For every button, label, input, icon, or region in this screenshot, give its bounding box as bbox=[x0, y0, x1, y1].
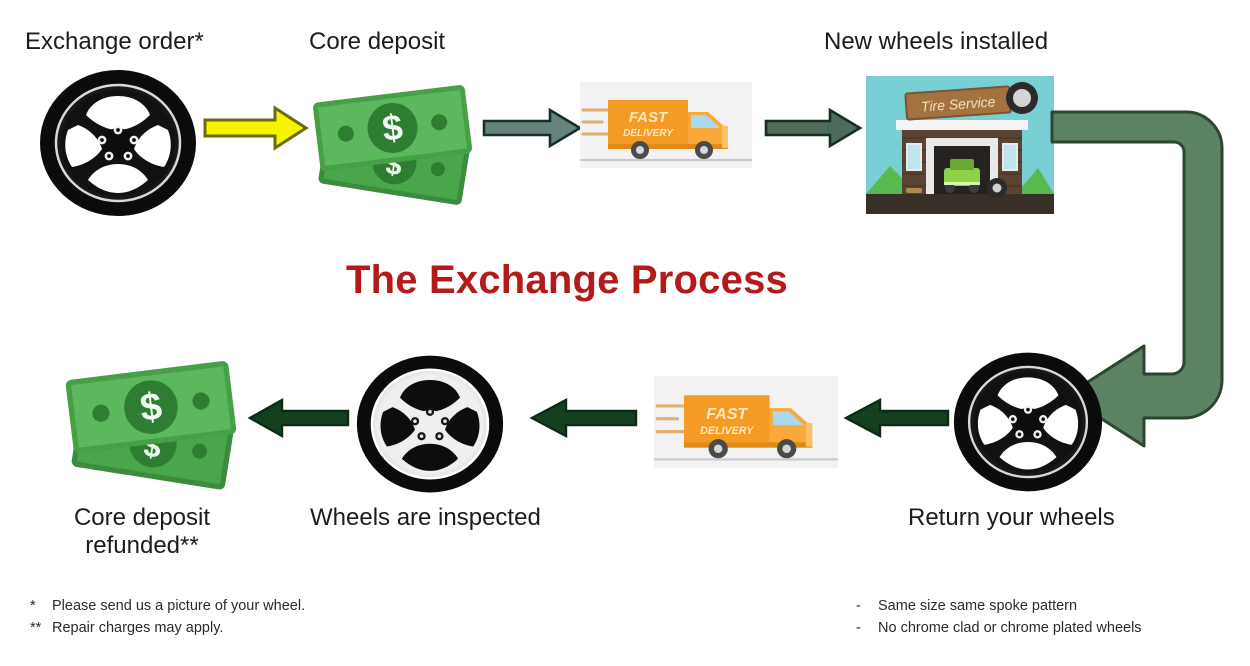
footnote-item: -No chrome clad or chrome plated wheels bbox=[856, 617, 1142, 639]
footnotes-left: *Please send us a picture of your wheel.… bbox=[30, 595, 305, 640]
footnote-marker: * bbox=[30, 595, 52, 617]
label-new-wheels-installed: New wheels installed bbox=[824, 28, 1048, 56]
label-exchange-order: Exchange order* bbox=[25, 28, 204, 56]
fast-delivery-truck-icon: FAST DELIVERY bbox=[580, 82, 752, 168]
footnotes-right: -Same size same spoke pattern -No chrome… bbox=[856, 595, 1142, 640]
black-alloy-wheel-icon bbox=[38, 68, 198, 218]
exchange-process-diagram: Exchange order* Core deposit New wheels … bbox=[0, 0, 1250, 666]
footnote-item: **Repair charges may apply. bbox=[30, 617, 305, 639]
label-core-deposit: Core deposit bbox=[309, 28, 445, 56]
dollar-bills-icon: $ $ bbox=[52, 345, 252, 495]
arrow-inspect-to-refund bbox=[246, 398, 350, 438]
truck-subline-text: DELIVERY bbox=[623, 128, 674, 139]
label-wheels-inspected: Wheels are inspected bbox=[310, 504, 541, 532]
arrow-deposit-to-ship bbox=[482, 108, 582, 148]
arrow-return-to-ship bbox=[842, 398, 950, 438]
arrow-order-to-deposit bbox=[203, 106, 308, 150]
label-line-2: refunded** bbox=[42, 532, 242, 560]
black-alloy-wheel-icon bbox=[952, 350, 1104, 494]
footnote-text: Please send us a picture of your wheel. bbox=[52, 598, 305, 614]
footnote-text: Repair charges may apply. bbox=[52, 620, 223, 636]
truck-subline-text: DELIVERY bbox=[700, 425, 754, 437]
footnote-marker: - bbox=[856, 617, 878, 639]
footnote-marker: ** bbox=[30, 617, 52, 639]
label-core-deposit-refunded: Core deposit refunded** bbox=[42, 504, 242, 561]
footnote-item: *Please send us a picture of your wheel. bbox=[30, 595, 305, 617]
footnote-text: No chrome clad or chrome plated wheels bbox=[878, 620, 1142, 636]
label-line-1: Core deposit bbox=[42, 504, 242, 532]
arrow-ship-to-inspect bbox=[528, 398, 638, 438]
fast-delivery-truck-icon: FAST DELIVERY bbox=[654, 376, 838, 468]
dollar-bills-icon: $ $ bbox=[306, 70, 481, 210]
tire-service-shop-icon: Tire Service bbox=[866, 76, 1054, 214]
label-return-your-wheels: Return your wheels bbox=[908, 504, 1115, 532]
truck-headline-text: FAST bbox=[706, 405, 748, 423]
silver-alloy-wheel-icon bbox=[355, 353, 505, 495]
footnote-text: Same size same spoke pattern bbox=[878, 598, 1077, 614]
page-title: The Exchange Process bbox=[346, 258, 788, 303]
arrow-ship-to-install bbox=[764, 108, 862, 148]
footnote-marker: - bbox=[856, 595, 878, 617]
footnote-item: -Same size same spoke pattern bbox=[856, 595, 1142, 617]
truck-headline-text: FAST bbox=[629, 109, 669, 126]
